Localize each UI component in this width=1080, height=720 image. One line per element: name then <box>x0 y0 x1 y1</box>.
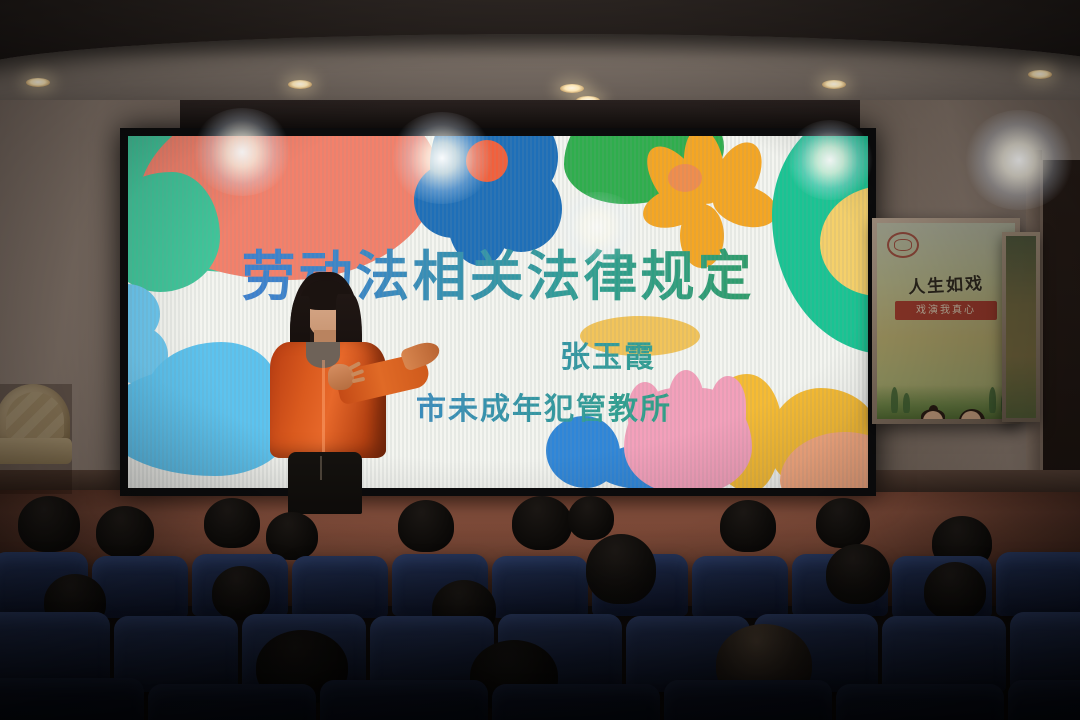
audience-head <box>924 562 986 620</box>
audience-seat-foreground[interactable] <box>664 680 832 720</box>
audience-head <box>816 498 870 548</box>
ceiling-downlight <box>288 80 312 89</box>
audience-head <box>512 496 572 550</box>
audience-head <box>96 506 154 558</box>
slide-presenter-name: 张玉霞 <box>128 332 868 376</box>
audience-seat-foreground[interactable] <box>836 684 1004 720</box>
poster-cypress-icon <box>903 393 910 413</box>
blue-flower-center <box>466 140 508 182</box>
audience-seat[interactable] <box>292 556 388 618</box>
orange-flower-center <box>668 164 702 192</box>
wall-poster-frame-secondary[interactable] <box>1002 232 1040 422</box>
audience-seat-foreground[interactable] <box>0 678 144 720</box>
audience-head <box>266 512 318 560</box>
audience-seat[interactable] <box>1010 612 1080 690</box>
speaker-presenter <box>252 272 420 512</box>
audience-seat-foreground[interactable] <box>148 684 316 720</box>
speaker-pants <box>288 452 362 514</box>
audience-head <box>568 496 614 540</box>
ceiling-downlight <box>1028 70 1052 79</box>
led-screen-frame: 劳动法相关法律规定 张玉霞 市未成年犯管教所 <box>120 128 876 496</box>
slide-title: 劳动法相关法律规定 <box>128 232 868 311</box>
speaker-drawstring <box>320 456 322 480</box>
poster-title: 人生如戏 <box>877 267 1015 299</box>
audience-seat[interactable] <box>692 556 788 618</box>
ceiling-downlight <box>822 80 846 89</box>
baseboard-right <box>860 470 1080 492</box>
poster-cypress-icon <box>891 387 898 413</box>
slide-canvas: 劳动法相关法律规定 张玉霞 市未成年犯管教所 <box>128 136 868 488</box>
audience-head <box>18 496 80 552</box>
doorway[interactable] <box>1040 160 1080 490</box>
audience-head <box>720 500 776 552</box>
wall-poster-art-secondary <box>1006 236 1036 418</box>
audience-seat-foreground[interactable] <box>492 684 660 720</box>
audience-head <box>826 544 890 604</box>
ornate-armchair[interactable] <box>0 384 72 494</box>
wall-poster-frame[interactable]: 人生如戏 戏演我真心 <box>872 218 1020 424</box>
audience-seat[interactable] <box>996 552 1080 616</box>
poster-cypress-icon <box>989 387 996 413</box>
chair-shadow-overlay <box>0 384 72 494</box>
red-seal-icon <box>887 232 919 258</box>
audience-seat-foreground[interactable] <box>320 680 488 720</box>
audience-head <box>586 534 656 604</box>
poster-shadow-overlay-secondary <box>1006 236 1036 418</box>
auditorium-scene: 劳动法相关法律规定 张玉霞 市未成年犯管教所 <box>0 0 1080 720</box>
ceiling-downlight <box>26 78 50 87</box>
audience-head <box>212 566 270 620</box>
ceiling-downlight <box>560 84 584 93</box>
audience-head <box>204 498 260 548</box>
audience-head <box>398 500 454 552</box>
wall-poster-art: 人生如戏 戏演我真心 <box>877 223 1015 419</box>
led-screen[interactable]: 劳动法相关法律规定 张玉霞 市未成年犯管教所 <box>128 136 868 488</box>
poster-banner: 戏演我真心 <box>895 301 997 320</box>
audience-seat[interactable] <box>92 556 188 618</box>
audience-seat[interactable] <box>882 616 1006 692</box>
audience-seat-foreground[interactable] <box>1008 680 1080 720</box>
audience-seat[interactable] <box>492 556 588 618</box>
speaker-jacket-zipper <box>322 360 325 452</box>
slide-organization: 市未成年犯管教所 <box>128 384 868 428</box>
